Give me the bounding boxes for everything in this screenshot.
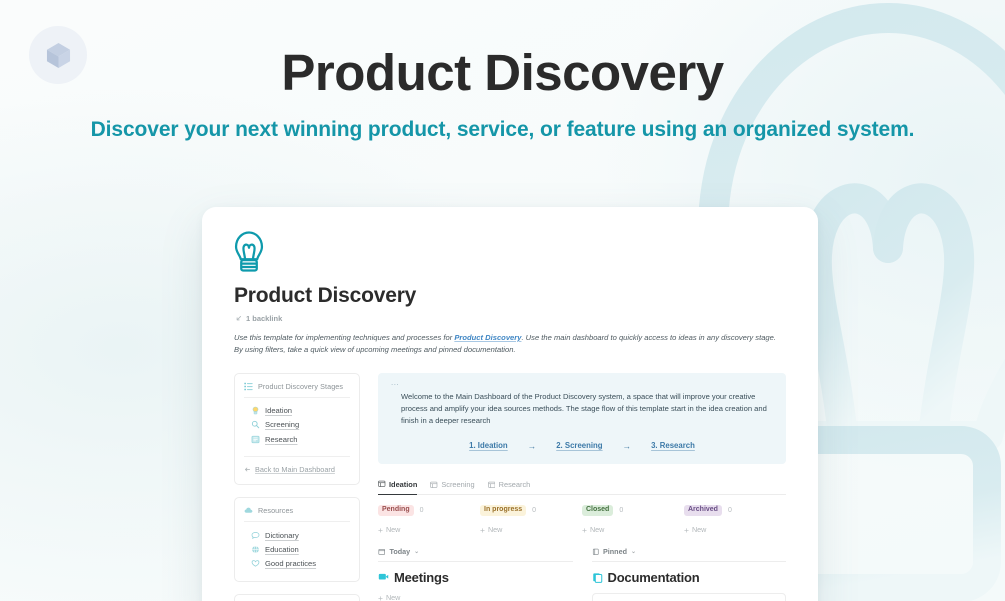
kanban-column-in-progress: In progress 0 + New bbox=[480, 505, 582, 535]
kanban-column-header: Pending 0 bbox=[378, 505, 480, 517]
add-new-label: New bbox=[386, 593, 400, 601]
status-badge: In progress bbox=[480, 505, 526, 517]
plus-icon: + bbox=[378, 594, 383, 601]
chevron-down-icon: ⌄ bbox=[631, 548, 636, 555]
panel-resources: Resources Dictionary bbox=[234, 497, 360, 582]
sidebar-item-ideation[interactable]: Ideation bbox=[244, 404, 350, 418]
sidebar-item-label: Dictionary bbox=[265, 531, 299, 540]
document-description: Use this template for implementing techn… bbox=[234, 332, 786, 357]
kanban-column-closed: Closed 0 + New bbox=[582, 505, 684, 535]
table-icon bbox=[378, 480, 386, 488]
add-new-card-button[interactable]: + New bbox=[378, 525, 480, 534]
main-content: ... Welcome to the Main Dashboard of the… bbox=[378, 373, 786, 601]
welcome-callout: ... Welcome to the Main Dashboard of the… bbox=[378, 373, 786, 464]
page-subtitle: Discover your next winning product, serv… bbox=[0, 117, 1005, 144]
kanban-count: 0 bbox=[420, 507, 424, 514]
magnifier-icon bbox=[251, 420, 260, 429]
sidebar: Product Discovery Stages Ideation bbox=[234, 373, 360, 601]
documentation-title-row: Documentation bbox=[592, 570, 787, 585]
panel-header: Resources bbox=[244, 506, 350, 522]
sidebar-item-label: Screening bbox=[265, 420, 299, 429]
documentation-filter[interactable]: Pinned ⌄ bbox=[592, 547, 787, 562]
add-new-documentation-button[interactable]: + New bbox=[592, 593, 787, 601]
table-icon bbox=[430, 481, 438, 489]
calendar-filter-icon bbox=[378, 548, 386, 556]
panel-gears: Gears Meetings bbox=[234, 594, 360, 601]
panel-title: Resources bbox=[258, 506, 293, 515]
list-menu-icon bbox=[244, 382, 253, 391]
hero-section: Product Discovery Discover your next win… bbox=[0, 0, 1005, 144]
kanban-count: 0 bbox=[728, 507, 732, 514]
lightbulb-icon bbox=[251, 406, 260, 415]
panel-title: Product Discovery Stages bbox=[258, 382, 343, 391]
book-icon bbox=[251, 435, 260, 444]
meetings-icon bbox=[378, 572, 389, 583]
view-tabs: Ideation Screening bbox=[378, 480, 786, 495]
sidebar-item-label: Education bbox=[265, 545, 299, 554]
meetings-filter[interactable]: Today ⌄ bbox=[378, 547, 573, 562]
add-new-label: New bbox=[386, 525, 400, 534]
callout-text: Welcome to the Main Dashboard of the Pro… bbox=[401, 391, 773, 428]
stage-link-research[interactable]: 3. Research bbox=[651, 441, 695, 450]
sidebar-item-label: Research bbox=[265, 435, 298, 444]
arrow-right-icon: → bbox=[528, 441, 537, 451]
section-meetings: Today ⌄ Meetings bbox=[378, 547, 573, 601]
add-new-label: New bbox=[488, 525, 502, 534]
stage-link-ideation[interactable]: 1. Ideation bbox=[469, 441, 508, 450]
tab-label: Ideation bbox=[389, 480, 417, 489]
tab-screening[interactable]: Screening bbox=[430, 480, 474, 495]
status-badge: Pending bbox=[378, 505, 414, 517]
stage-flow: 1. Ideation → 2. Screening → 3. Research bbox=[391, 441, 773, 451]
description-part1: Use this template for implementing techn… bbox=[234, 333, 454, 342]
page-title: Product Discovery bbox=[0, 44, 1005, 103]
callout-dots: ... bbox=[391, 381, 773, 385]
tab-label: Screening bbox=[441, 480, 474, 489]
heart-icon bbox=[251, 559, 260, 568]
documentation-icon bbox=[592, 572, 603, 583]
documentation-title: Documentation bbox=[608, 570, 700, 585]
description-link[interactable]: Product Discovery bbox=[454, 333, 521, 342]
table-icon bbox=[488, 481, 496, 489]
pin-filter-icon bbox=[592, 548, 600, 556]
sidebar-item-dictionary[interactable]: Dictionary bbox=[244, 528, 350, 542]
sidebar-item-screening[interactable]: Screening bbox=[244, 418, 350, 432]
add-new-meeting-button[interactable]: + New bbox=[378, 593, 573, 601]
kanban-column-header: Closed 0 bbox=[582, 505, 684, 517]
document-title: Product Discovery bbox=[234, 284, 802, 308]
backlink-arrow-icon bbox=[235, 315, 242, 322]
arrow-left-icon bbox=[244, 466, 251, 473]
tab-label: Research bbox=[499, 480, 531, 489]
add-new-label: New bbox=[590, 525, 604, 534]
meetings-title: Meetings bbox=[394, 570, 449, 585]
kanban-count: 0 bbox=[619, 507, 623, 514]
sidebar-item-research[interactable]: Research bbox=[244, 432, 350, 446]
kanban-column-header: In progress 0 bbox=[480, 505, 582, 517]
app-window-card: Product Discovery 1 backlink Use this te… bbox=[202, 207, 818, 601]
add-new-label: New bbox=[692, 525, 706, 534]
sidebar-item-label: Ideation bbox=[265, 406, 292, 415]
kanban-board: Pending 0 + New In progress 0 bbox=[378, 505, 786, 535]
panel-header: Product Discovery Stages bbox=[244, 382, 350, 398]
backlink-indicator[interactable]: 1 backlink bbox=[235, 314, 802, 323]
sidebar-item-good-practices[interactable]: Good practices bbox=[244, 557, 350, 571]
lightbulb-icon bbox=[230, 229, 802, 274]
meetings-title-row: Meetings bbox=[378, 570, 573, 585]
tab-research[interactable]: Research bbox=[488, 480, 531, 495]
add-new-card-button[interactable]: + New bbox=[582, 525, 684, 534]
kanban-column-header: Archived 0 bbox=[684, 505, 786, 517]
kanban-column-pending: Pending 0 + New bbox=[378, 505, 480, 535]
sidebar-item-education[interactable]: Education bbox=[244, 542, 350, 556]
bottom-sections: Today ⌄ Meetings bbox=[378, 547, 786, 601]
speech-bubble-icon bbox=[251, 531, 260, 540]
chevron-down-icon: ⌄ bbox=[414, 548, 419, 555]
back-to-main-dashboard-link[interactable]: Back to Main Dashboard bbox=[244, 456, 350, 474]
globe-icon bbox=[251, 545, 260, 554]
kanban-column-archived: Archived 0 + New bbox=[684, 505, 786, 535]
add-new-card-button[interactable]: + New bbox=[480, 525, 582, 534]
stage-link-screening[interactable]: 2. Screening bbox=[556, 441, 602, 450]
meetings-filter-label: Today bbox=[390, 547, 411, 556]
add-new-card-button[interactable]: + New bbox=[684, 525, 786, 534]
cloud-icon bbox=[244, 506, 253, 515]
documentation-filter-label: Pinned bbox=[603, 547, 627, 556]
plus-icon: + bbox=[582, 526, 587, 535]
panel-product-discovery-stages: Product Discovery Stages Ideation bbox=[234, 373, 360, 486]
tab-ideation[interactable]: Ideation bbox=[378, 480, 417, 495]
status-badge: Archived bbox=[684, 505, 722, 517]
backlink-label: 1 backlink bbox=[246, 314, 282, 323]
back-link-label: Back to Main Dashboard bbox=[255, 465, 335, 474]
section-documentation: Pinned ⌄ Documentation bbox=[592, 547, 787, 601]
kanban-count: 0 bbox=[532, 507, 536, 514]
sidebar-item-label: Good practices bbox=[265, 559, 316, 568]
plus-icon: + bbox=[378, 526, 383, 535]
arrow-right-icon: → bbox=[623, 441, 632, 451]
plus-icon: + bbox=[684, 526, 689, 535]
plus-icon: + bbox=[480, 526, 485, 535]
page-root: Product Discovery Discover your next win… bbox=[0, 0, 1005, 601]
status-badge: Closed bbox=[582, 505, 613, 517]
